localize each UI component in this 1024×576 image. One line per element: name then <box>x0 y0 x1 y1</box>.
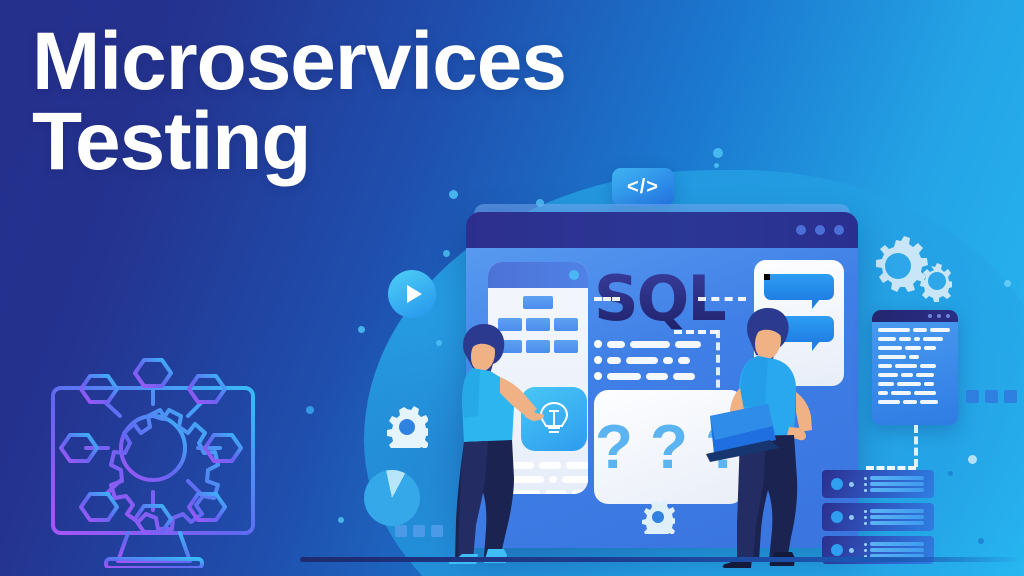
code-window <box>872 310 958 425</box>
decor-dot <box>713 148 723 158</box>
gear-icon <box>641 500 675 534</box>
dashed-connector <box>594 297 620 301</box>
code-window-titlebar <box>872 310 958 322</box>
window-dot <box>796 225 806 235</box>
pie-chart-icon <box>364 470 420 526</box>
code-line <box>878 328 952 332</box>
code-line <box>878 382 952 386</box>
decor-dot <box>1004 280 1011 287</box>
code-line <box>878 337 952 341</box>
decor-dot <box>338 517 344 523</box>
microservices-monitor-icon <box>48 316 298 568</box>
server-led-small <box>849 482 854 487</box>
decor-dot <box>443 250 450 257</box>
decor-dot <box>714 163 719 168</box>
phone-camera-dot <box>569 270 579 280</box>
decor-dot <box>948 471 953 476</box>
banner-stage: Microservices Testing <box>0 0 1024 576</box>
server-led <box>831 478 843 490</box>
window-control-dots <box>796 225 844 235</box>
browser-titlebar <box>466 212 858 248</box>
window-dot <box>834 225 844 235</box>
code-line <box>878 346 952 350</box>
window-dot <box>815 225 825 235</box>
server-led-small <box>849 548 854 553</box>
server-unit <box>822 470 934 498</box>
code-lines <box>872 322 958 404</box>
server-bars <box>864 509 924 527</box>
server-led <box>831 511 843 523</box>
gear-icon <box>386 406 428 448</box>
decor-dot <box>968 455 977 464</box>
person-pointing-at-chart <box>424 306 544 564</box>
page-title: Microservices Testing <box>32 22 566 183</box>
code-badge-icon: </> <box>612 168 674 206</box>
server-led-small <box>849 515 854 520</box>
person-with-laptop <box>700 296 840 568</box>
server-led <box>831 544 843 556</box>
ground-line <box>300 557 1024 562</box>
decor-dot <box>306 406 314 414</box>
decor-squares <box>966 390 1017 403</box>
code-line <box>878 373 952 377</box>
server-bars <box>864 476 924 494</box>
tree-node <box>554 340 578 353</box>
decor-dot <box>449 190 458 199</box>
code-line <box>878 364 952 368</box>
server-rack <box>822 470 934 568</box>
tree-node <box>554 318 578 331</box>
gears-icon <box>866 232 952 302</box>
code-line <box>878 391 952 395</box>
code-line <box>878 355 952 359</box>
dashed-connector <box>914 425 918 467</box>
decor-dot <box>978 538 984 544</box>
decor-dot <box>358 326 365 333</box>
code-line <box>878 400 952 404</box>
server-unit <box>822 503 934 531</box>
